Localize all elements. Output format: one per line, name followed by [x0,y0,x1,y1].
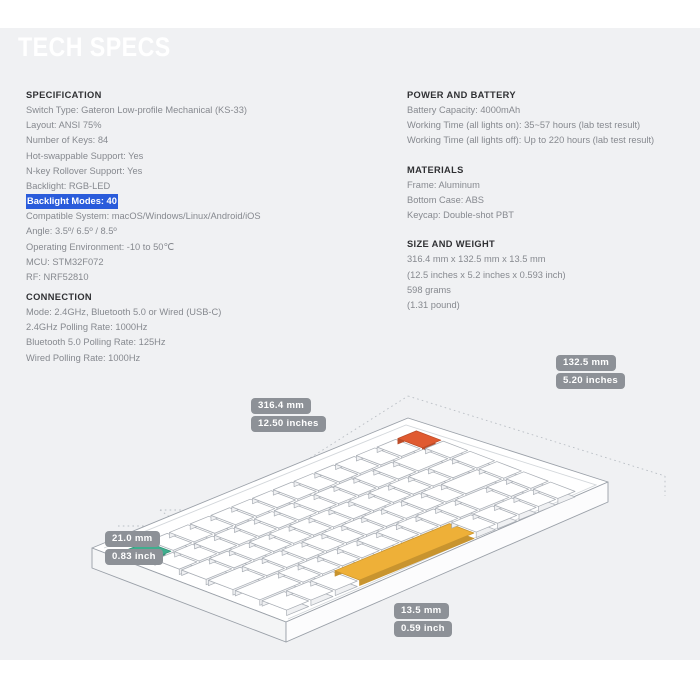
badge-width-mm: 132.5 mm [556,355,616,371]
spec-text: Compatible System: macOS/Windows/Linux/A… [26,211,261,221]
specification-line: Switch Type: Gateron Low-profile Mechani… [26,103,366,118]
specification-line: Angle: 3.5º/ 6.5º / 8.5º [26,224,366,239]
materials-line: Frame: Aluminum [407,178,692,193]
specification-line: Compatible System: macOS/Windows/Linux/A… [26,209,366,224]
tech-specs-page: TECH SPECS SPECIFICATION Switch Type: Ga… [0,0,700,700]
specification-line: Layout: ANSI 75% [26,118,366,133]
specification-line: N-key Rollover Support: Yes [26,164,366,179]
materials-line: Keycap: Double-shot PBT [407,208,692,223]
specification-line-selected[interactable]: Backlight Modes: 40 [26,194,366,209]
materials-line: Bottom Case: ABS [407,193,692,208]
size-line: (12.5 inches x 5.2 inches x 0.593 inch) [407,268,692,283]
specification-line: Operating Environment: -10 to 50℃ [26,240,366,255]
power-line: Working Time (all lights on): 35~57 hour… [407,118,692,133]
power-and-battery-section: POWER AND BATTERY Battery Capacity: 4000… [407,88,692,149]
materials-heading: MATERIALS [407,163,692,178]
spec-text: Operating Environment: -10 to 50℃ [26,242,174,252]
badge-length-inches: 12.50 inches [251,416,326,432]
specification-line: RF: NRF52810 [26,270,366,285]
size-and-weight-section: SIZE AND WEIGHT 316.4 mm x 132.5 mm x 13… [407,237,692,313]
size-line: 316.4 mm x 132.5 mm x 13.5 mm [407,252,692,267]
badge-length-mm: 316.4 mm [251,398,311,414]
connection-line: Mode: 2.4GHz, Bluetooth 5.0 or Wired (US… [26,305,366,320]
spec-text: N-key Rollover Support: Yes [26,166,142,176]
spec-text: Backlight: RGB-LED [26,181,110,191]
connection-heading: CONNECTION [26,290,366,305]
size-and-weight-heading: SIZE AND WEIGHT [407,237,692,252]
power-line: Working Time (all lights off): Up to 220… [407,133,692,148]
spec-text: Layout: ANSI 75% [26,120,101,130]
badge-keyheight-mm: 21.0 mm [105,531,160,547]
specification-line: MCU: STM32F072 [26,255,366,270]
badge-keyheight-inches: 0.83 inch [105,549,163,565]
power-line: Battery Capacity: 4000mAh [407,103,692,118]
specification-line: Number of Keys: 84 [26,133,366,148]
right-spec-column: POWER AND BATTERY Battery Capacity: 4000… [407,88,692,313]
materials-section: MATERIALS Frame: Aluminum Bottom Case: A… [407,163,692,224]
page-title: TECH SPECS [18,33,171,63]
specification-line: Backlight: RGB-LED [26,179,366,194]
badge-thickness-mm: 13.5 mm [394,603,449,619]
specification-section: SPECIFICATION Switch Type: Gateron Low-p… [26,88,366,285]
selected-spec-text[interactable]: Backlight Modes: 40 [26,194,118,209]
badge-thickness-inches: 0.59 inch [394,621,452,637]
spec-text: Hot-swappable Support: Yes [26,151,143,161]
specification-line: Hot-swappable Support: Yes [26,149,366,164]
power-and-battery-heading: POWER AND BATTERY [407,88,692,103]
specification-heading: SPECIFICATION [26,88,366,103]
size-line: (1.31 pound) [407,298,692,313]
spec-text: RF: NRF52810 [26,272,89,282]
spec-text: Switch Type: Gateron Low-profile Mechani… [26,105,247,115]
spec-text: Angle: 3.5º/ 6.5º / 8.5º [26,226,117,236]
spec-text: MCU: STM32F072 [26,257,104,267]
spec-text: Number of Keys: 84 [26,135,108,145]
size-line: 598 grams [407,283,692,298]
badge-width-inches: 5.20 inches [556,373,625,389]
